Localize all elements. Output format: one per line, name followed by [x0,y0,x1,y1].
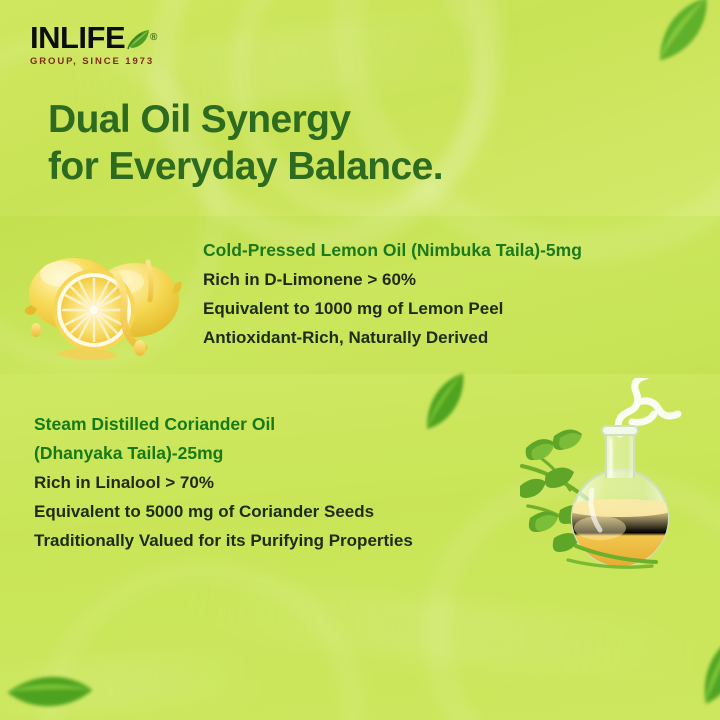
page-title: Dual Oil Synergy for Everyday Balance. [48,96,668,190]
poster-canvas: INLIFE ® GROUP, SINCE 1973 Dual Oil Syne… [0,0,720,720]
coriander-line-1: Rich in Linalool > 70% [34,468,534,497]
headline-line-1: Dual Oil Synergy [48,96,668,143]
brand-tagline: GROUP, SINCE 1973 [30,56,170,67]
lemon-section-text: Cold-Pressed Lemon Oil (Nimbuka Taila)-5… [203,236,703,352]
coriander-line-3: Traditionally Valued for its Purifying P… [34,526,534,555]
lemon-heading: Cold-Pressed Lemon Oil (Nimbuka Taila)-5… [203,236,703,265]
leaf-icon [126,25,152,51]
brand-name: INLIFE ® [30,22,170,54]
lemon-line-1: Rich in D-Limonene > 60% [203,265,703,294]
coriander-section-text: Steam Distilled Coriander Oil (Dhanyaka … [34,410,534,555]
coriander-line-2: Equivalent to 5000 mg of Coriander Seeds [34,497,534,526]
coriander-heading-line-1: Steam Distilled Coriander Oil [34,410,534,439]
registered-mark-icon: ® [150,22,157,54]
lemon-illustration [12,232,184,360]
headline-line-2: for Everyday Balance. [48,143,668,190]
coriander-heading-line-2: (Dhanyaka Taila)-25mg [34,439,534,468]
flask-coriander-illustration [520,378,716,584]
lemon-line-2: Equivalent to 1000 mg of Lemon Peel [203,294,703,323]
brand-name-text: INLIFE [30,20,125,55]
lemon-line-3: Antioxidant-Rich, Naturally Derived [203,323,703,352]
brand-logo: INLIFE ® GROUP, SINCE 1973 [30,22,170,74]
